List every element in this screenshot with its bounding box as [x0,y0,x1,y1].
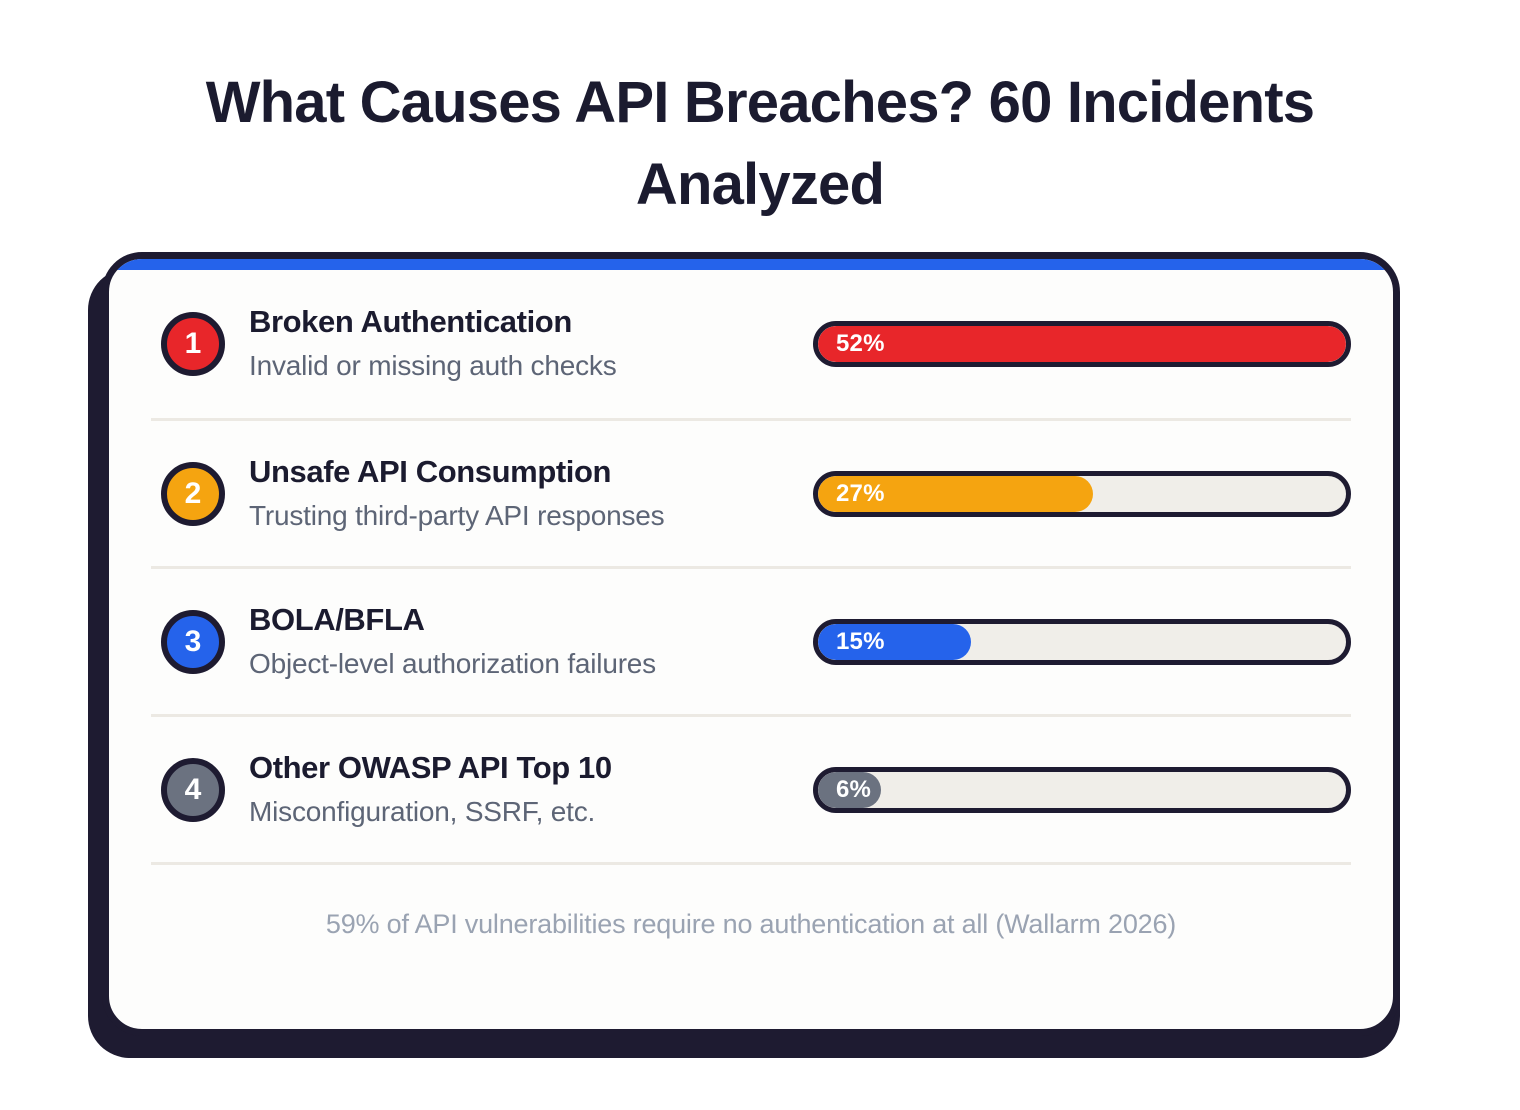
bar-container: 52% [809,321,1351,367]
bar-track: 52% [813,321,1351,367]
row-text-block: Broken Authentication Invalid or missing… [249,303,809,384]
bar-track: 27% [813,471,1351,517]
row-title: Other OWASP API Top 10 [249,749,809,787]
list-item[interactable]: 3 BOLA/BFLA Object-level authorization f… [151,566,1351,714]
rank-badge: 2 [161,462,225,526]
infographic-page: What Causes API Breaches? 60 Incidents A… [0,0,1520,1110]
row-text-block: Unsafe API Consumption Trusting third-pa… [249,453,809,534]
accent-strip [109,259,1393,270]
card-content: 1 Broken Authentication Invalid or missi… [109,270,1393,1029]
rank-badge-label: 2 [185,479,202,509]
rank-badge: 3 [161,610,225,674]
list-item[interactable]: 2 Unsafe API Consumption Trusting third-… [151,418,1351,566]
ranking-card: 1 Broken Authentication Invalid or missi… [102,252,1400,1036]
bar-container: 6% [809,767,1351,813]
row-title: Broken Authentication [249,303,809,341]
rank-badge: 4 [161,758,225,822]
row-subtitle: Object-level authorization failures [249,646,809,682]
rank-badge-label: 4 [185,775,202,805]
row-text-block: Other OWASP API Top 10 Misconfiguration,… [249,749,809,830]
bar-percent-label: 15% [836,624,885,660]
page-title: What Causes API Breaches? 60 Incidents A… [110,62,1410,227]
row-subtitle: Trusting third-party API responses [249,498,809,534]
bar-percent-label: 27% [836,476,885,512]
rank-badge-label: 3 [185,627,202,657]
rank-badge: 1 [161,312,225,376]
bar-track: 6% [813,767,1351,813]
row-title: Unsafe API Consumption [249,453,809,491]
list-item[interactable]: 1 Broken Authentication Invalid or missi… [151,270,1351,418]
list-item[interactable]: 4 Other OWASP API Top 10 Misconfiguratio… [151,714,1351,862]
footer-note: 59% of API vulnerabilities require no au… [151,865,1351,983]
bar-percent-label: 6% [836,772,871,808]
row-subtitle: Misconfiguration, SSRF, etc. [249,794,809,830]
rank-badge-label: 1 [185,329,202,359]
row-title: BOLA/BFLA [249,601,809,639]
bar-container: 27% [809,471,1351,517]
bar-fill [818,326,1346,362]
bar-percent-label: 52% [836,326,885,362]
row-subtitle: Invalid or missing auth checks [249,348,809,384]
bar-container: 15% [809,619,1351,665]
row-text-block: BOLA/BFLA Object-level authorization fai… [249,601,809,682]
bar-track: 15% [813,619,1351,665]
